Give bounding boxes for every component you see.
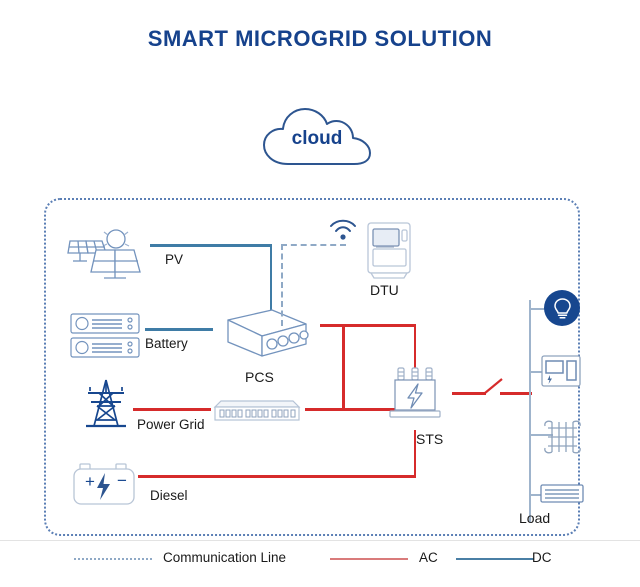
wifi-icon xyxy=(328,217,358,246)
diesel-generator-icon: + − xyxy=(72,462,136,511)
dtu-terminal-icon xyxy=(364,222,414,285)
label-load: Load xyxy=(519,510,550,526)
comm-line-vertical xyxy=(281,244,283,326)
label-pv: PV xyxy=(165,252,183,267)
cloud-label: cloud xyxy=(258,128,376,150)
cloud-node: cloud xyxy=(258,104,376,170)
legend-label-dc: DC xyxy=(532,550,552,565)
transmission-tower-icon xyxy=(78,378,134,435)
legend-swatch-dc xyxy=(456,558,534,560)
legend-swatch-ac xyxy=(330,558,408,560)
legend-divider xyxy=(0,540,640,541)
legend-swatch-comm xyxy=(74,558,152,560)
legend: Communication Line AC DC xyxy=(0,548,640,576)
ac-line-to-load-bus xyxy=(500,392,532,395)
sts-transfer-switch-icon xyxy=(388,366,442,423)
legend-label-ac: AC xyxy=(419,550,438,565)
ac-line-pcs-out xyxy=(320,324,416,327)
pcs-converter-icon xyxy=(212,306,310,369)
dc-line-battery xyxy=(145,328,213,331)
legend-label-comm: Communication Line xyxy=(163,550,286,565)
ac-line-grid xyxy=(133,408,211,411)
label-power-grid: Power Grid xyxy=(137,417,205,432)
label-dtu: DTU xyxy=(370,282,399,298)
server-strip-icon xyxy=(540,484,584,509)
label-sts: STS xyxy=(416,431,443,447)
radiator-heater-icon xyxy=(538,417,586,462)
meter-panel-icon xyxy=(541,355,581,392)
ac-line-diesel xyxy=(138,475,416,478)
open-switch-symbol xyxy=(484,376,510,398)
solar-panel-icon xyxy=(62,228,150,285)
page-title: SMART MICROGRID SOLUTION xyxy=(0,26,640,52)
label-battery: Battery xyxy=(145,336,188,351)
label-diesel: Diesel xyxy=(150,488,188,503)
svg-text:−: − xyxy=(117,471,127,490)
light-bulb-icon xyxy=(552,297,573,325)
ac-line-pcs-branch xyxy=(342,324,345,409)
battery-rack-icon xyxy=(70,313,140,364)
load-bus-line xyxy=(529,300,531,522)
diagram-canvas: SMART MICROGRID SOLUTION cloud xyxy=(0,0,640,587)
label-pcs: PCS xyxy=(245,369,274,385)
dc-line-pv xyxy=(150,244,272,247)
svg-text:+: + xyxy=(85,472,95,491)
ac-line-sts-out xyxy=(452,392,486,395)
switchgear-cabinet-icon xyxy=(213,393,301,428)
